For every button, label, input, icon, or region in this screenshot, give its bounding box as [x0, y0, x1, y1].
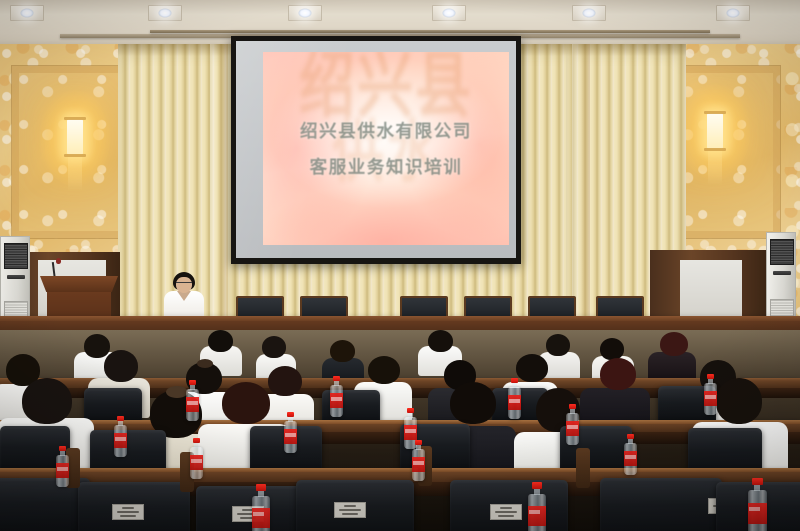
presenter-at-head-table	[163, 272, 205, 322]
ceiling-spot-5	[572, 5, 606, 21]
audience-desk-edge-row-3	[0, 468, 800, 472]
ac-vent-grille-icon	[4, 243, 28, 269]
person-head	[600, 358, 636, 390]
person-head	[222, 382, 270, 424]
bottle-label	[704, 391, 717, 406]
head-table-edge	[0, 316, 800, 321]
plate-text-line	[344, 505, 356, 507]
person-head	[268, 366, 302, 396]
bottle-label	[748, 503, 767, 524]
person-head	[262, 336, 286, 358]
plate-text-line	[117, 511, 139, 513]
ceiling-spot-4	[432, 5, 466, 21]
bottle-cap	[752, 478, 763, 485]
ac-control-badge	[773, 271, 791, 275]
person-head	[516, 354, 548, 382]
person-head	[600, 338, 624, 360]
audience-chair-front	[600, 478, 722, 531]
person-head	[428, 330, 453, 352]
audience-chair-front	[450, 480, 568, 531]
projection-screen: 绍兴县 供水 绍兴县供水有限公司 客服业务知识培训	[231, 36, 521, 264]
bottle-cap	[532, 482, 542, 489]
person-head	[716, 378, 762, 424]
bottle-label	[330, 393, 343, 408]
plate-text-line	[495, 511, 517, 513]
chair-armrest	[576, 448, 590, 488]
audience-area	[0, 330, 800, 531]
person-head	[330, 340, 355, 362]
bottle-label	[508, 395, 521, 410]
plate-text-line	[120, 515, 136, 517]
wall-sconce-left	[67, 119, 83, 155]
bottle-label	[284, 429, 297, 444]
presenter-face	[176, 277, 192, 293]
slide-title-line-2: 客服业务知识培训	[263, 154, 509, 179]
bottle-label	[404, 425, 417, 440]
ceiling-spot-3	[288, 5, 322, 21]
audience-chair-front	[296, 480, 414, 531]
person-head	[104, 350, 138, 382]
bottle-label	[566, 421, 579, 436]
seat-name-plate	[334, 502, 366, 518]
hair-clip-icon	[197, 359, 213, 368]
ceiling-spot-6	[716, 5, 750, 21]
bottle-label	[190, 455, 203, 470]
person-head	[450, 382, 496, 424]
microphone-icon	[56, 258, 61, 264]
plate-text-line	[500, 507, 512, 509]
spotlight-glow-icon	[299, 9, 312, 18]
bottle-label	[412, 457, 425, 472]
seat-name-plate	[490, 504, 522, 520]
ceiling-spot-1	[10, 5, 44, 21]
spotlight-glow-icon	[443, 9, 456, 18]
person-head	[660, 332, 688, 356]
slide-watermark-1: 绍兴县	[263, 52, 509, 121]
glasses-icon	[176, 282, 192, 285]
bottle-label	[186, 397, 199, 412]
sconce-light-spill-right	[708, 149, 722, 185]
bottle-label	[528, 506, 546, 526]
spotlight-glow-icon	[21, 9, 34, 18]
sconce-light-spill-left	[68, 155, 82, 191]
hair-clip-icon	[166, 386, 188, 398]
ceiling-spot-2	[148, 5, 182, 21]
seat-name-plate	[112, 504, 144, 520]
bottle-label	[114, 433, 127, 448]
person-head	[84, 334, 110, 358]
projection-screen-surface: 绍兴县 供水 绍兴县供水有限公司 客服业务知识培训	[236, 41, 516, 258]
wall-sconce-right	[707, 113, 723, 149]
plate-text-line	[339, 509, 361, 511]
projected-slide: 绍兴县 供水 绍兴县供水有限公司 客服业务知识培训	[263, 52, 509, 245]
audience-chair	[84, 388, 142, 422]
spotlight-glow-icon	[583, 9, 596, 18]
plate-text-line	[342, 513, 358, 515]
person-head	[546, 334, 570, 356]
plate-text-line	[122, 507, 134, 509]
bottle-label	[252, 508, 270, 528]
person-head	[22, 378, 72, 424]
ac-control-badge	[7, 275, 25, 279]
person-head	[208, 330, 233, 352]
bottle-label	[56, 463, 69, 478]
plate-text-line	[498, 515, 514, 517]
ac-vent-grille-icon	[770, 239, 794, 265]
slide-title-line-1: 绍兴县供水有限公司	[263, 118, 509, 143]
bottle-label	[624, 451, 637, 466]
conference-room-photo: 绍兴县 供水 绍兴县供水有限公司 客服业务知识培训	[0, 0, 800, 531]
bottle-cap	[256, 484, 266, 491]
spotlight-glow-icon	[159, 9, 172, 18]
person-head	[368, 356, 400, 384]
podium-top	[40, 276, 118, 292]
curtain-rail-secondary	[150, 30, 710, 33]
spotlight-glow-icon	[727, 9, 740, 18]
audience-chair-front	[78, 482, 190, 531]
